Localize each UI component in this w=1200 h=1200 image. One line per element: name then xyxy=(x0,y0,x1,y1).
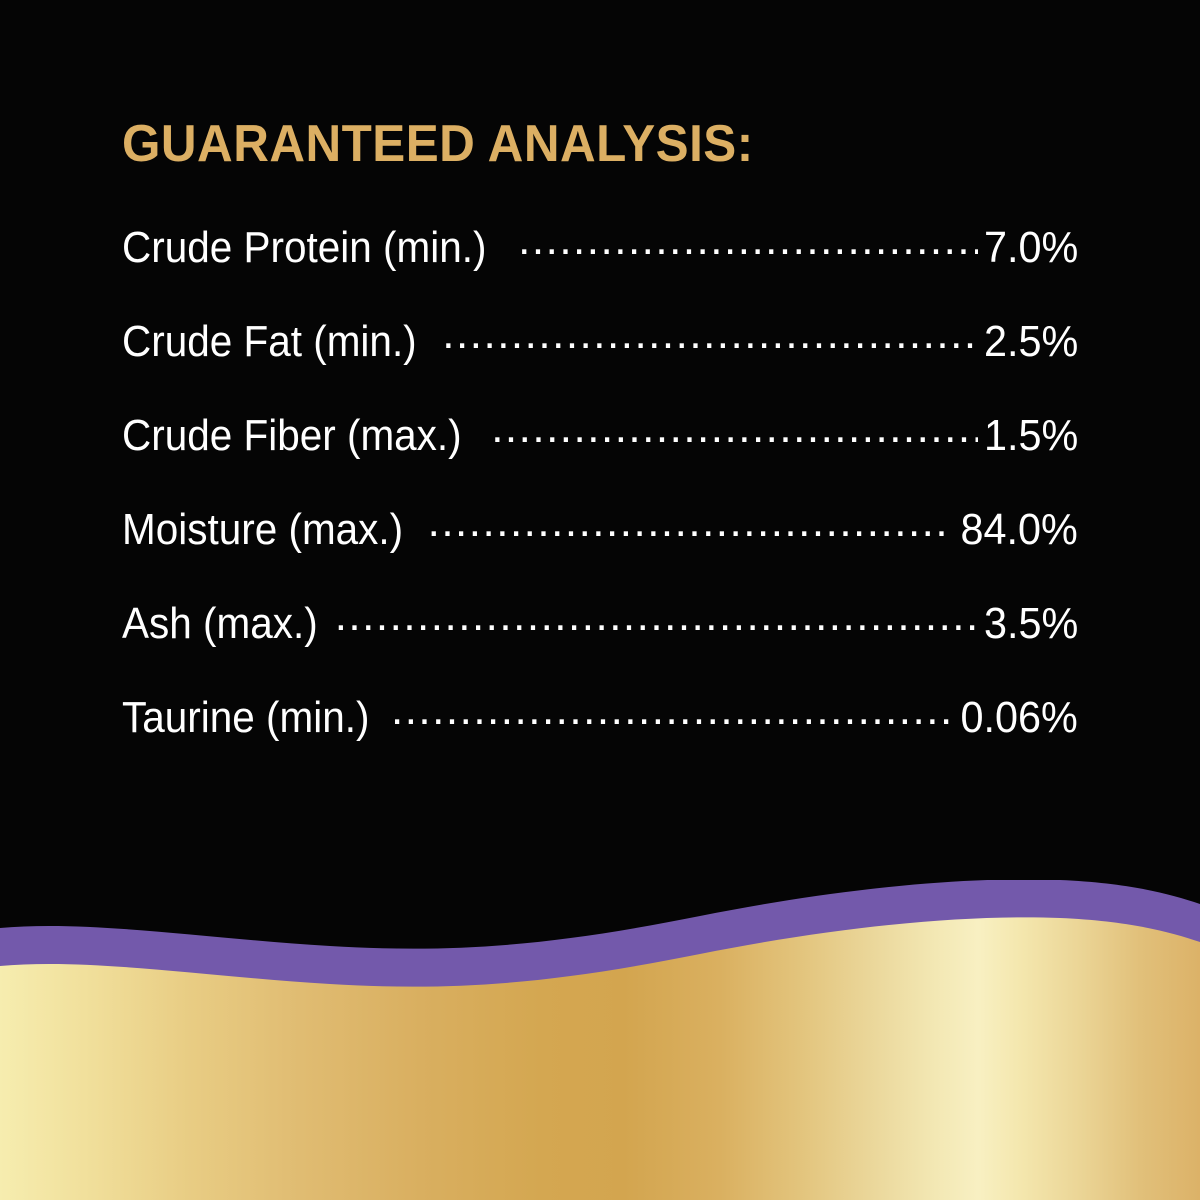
table-row: Taurine (min.) 0.06% xyxy=(122,688,1078,782)
bottom-wave-decoration xyxy=(0,880,1200,1200)
table-row: Crude Fat (min.) 2.5% xyxy=(122,312,1078,406)
leader-dots xyxy=(491,406,978,450)
leader-dots xyxy=(428,500,954,544)
nutrient-label: Moisture (max.) xyxy=(122,508,403,552)
nutrient-value: 3.5% xyxy=(984,602,1078,646)
analysis-content: GUARANTEED ANALYSIS: Crude Protein (min.… xyxy=(0,0,1200,900)
purple-wave-band xyxy=(0,880,1200,1200)
table-row: Ash (max.) 3.5% xyxy=(122,594,1078,688)
nutrient-value: 0.06% xyxy=(961,696,1078,740)
nutrient-label: Ash (max.) xyxy=(122,602,318,646)
leader-dots xyxy=(391,688,953,732)
nutrient-value: 84.0% xyxy=(961,508,1078,552)
guaranteed-analysis-panel: GUARANTEED ANALYSIS: Crude Protein (min.… xyxy=(0,0,1200,1200)
nutrient-label: Crude Fat (min.) xyxy=(122,320,417,364)
nutrient-value: 7.0% xyxy=(984,226,1078,270)
table-row: Moisture (max.) 84.0% xyxy=(122,500,1078,594)
analysis-table: Crude Protein (min.) 7.0% Crude Fat (min… xyxy=(122,218,1078,782)
table-row: Crude Protein (min.) 7.0% xyxy=(122,218,1078,312)
nutrient-label: Crude Fiber (max.) xyxy=(122,414,462,458)
leader-dots xyxy=(335,594,978,638)
table-row: Crude Fiber (max.) 1.5% xyxy=(122,406,1078,500)
page-title: GUARANTEED ANALYSIS: xyxy=(122,118,1030,170)
nutrient-label: Taurine (min.) xyxy=(122,696,369,740)
leader-dots xyxy=(442,312,977,356)
nutrient-label: Crude Protein (min.) xyxy=(122,226,486,270)
leader-dots xyxy=(518,218,978,262)
gold-wave-area xyxy=(0,917,1200,1200)
nutrient-value: 1.5% xyxy=(984,414,1078,458)
nutrient-value: 2.5% xyxy=(984,320,1078,364)
